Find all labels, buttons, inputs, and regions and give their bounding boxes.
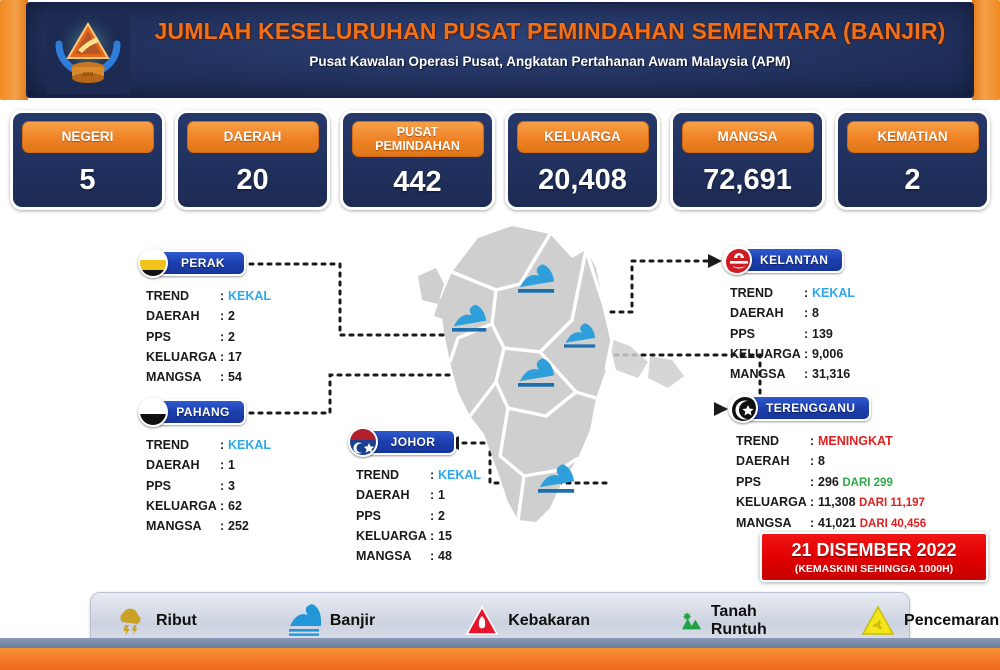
stat-label-kematian: KEMATIAN <box>847 121 979 153</box>
stat-label-negeri: NEGERI <box>22 121 154 153</box>
state-panel-kelantan[interactable]: KELANTAN TREND:KEKAL DAERAH:8 PPS:139 KE… <box>722 245 855 384</box>
stat-card-kematian: KEMATIAN 2 <box>835 110 990 210</box>
state-header-kelantan: KELANTAN <box>722 245 855 275</box>
row-pps: PPS:2 <box>146 327 271 347</box>
row-daerah: DAERAH:1 <box>146 455 271 475</box>
row-mangsa: MANGSA:31,316 <box>730 364 855 384</box>
row-keluarga: KELUARGA:17 <box>146 347 271 367</box>
row-trend: TREND:MENINGKAT <box>736 431 926 451</box>
row-keluarga: KELUARGA:11,308 DARI 11,197 <box>736 492 926 513</box>
row-pps: PPS:3 <box>146 476 271 496</box>
row-mangsa: MANGSA:252 <box>146 516 271 536</box>
stat-label-pusat-pemindahan: PUSAT PEMINDAHAN <box>352 121 484 157</box>
map-area: PERAK TREND:KEKAL DAERAH:2 PPS:2 KELUARG… <box>0 215 1000 585</box>
row-trend: TREND:KEKAL <box>146 435 271 455</box>
row-keluarga: KELUARGA:15 <box>356 526 481 546</box>
johor-flag-icon <box>348 427 378 457</box>
mangsa-previous-value: DARI 40,456 <box>860 518 926 530</box>
state-rows-terengganu: TREND:MENINGKAT DAERAH:8 PPS:296 DARI 29… <box>736 431 926 533</box>
header-banner: APM JUMLAH KESELURUHAN PUSAT PEMINDAHAN … <box>26 2 974 98</box>
stat-value-kematian: 2 <box>904 153 920 207</box>
legend-label-pencemaran: Pencemaran <box>904 612 999 630</box>
fire-triangle-icon <box>465 604 499 638</box>
row-mangsa: MANGSA:54 <box>146 367 271 387</box>
row-keluarga: KELUARGA:62 <box>146 496 271 516</box>
state-header-johor: JOHOR <box>348 427 481 457</box>
kelantan-flag-icon <box>722 245 752 275</box>
stat-label-daerah: DAERAH <box>187 121 319 153</box>
row-daerah: DAERAH:8 <box>736 451 926 471</box>
row-daerah: DAERAH:1 <box>356 485 481 505</box>
state-header-pahang: PAHANG <box>138 397 271 427</box>
summary-stats-row: NEGERI 5 DAERAH 20 PUSAT PEMINDAHAN 442 … <box>10 110 990 210</box>
stat-card-mangsa: MANGSA 72,691 <box>670 110 825 210</box>
legend-item-pencemaran: Pencemaran <box>861 604 999 638</box>
terengganu-flag-icon <box>728 393 758 423</box>
stat-card-keluarga: KELUARGA 20,408 <box>505 110 660 210</box>
state-rows-johor: TREND:KEKAL DAERAH:1 PPS:2 KELUARGA:15 M… <box>356 465 481 566</box>
legend-item-kebakaran: Kebakaran <box>465 604 590 638</box>
legend-label-kebakaran: Kebakaran <box>508 612 590 630</box>
date-banner: 21 DISEMBER 2022 (KEMASKINI SEHINGGA 100… <box>760 532 988 582</box>
state-rows-pahang: TREND:KEKAL DAERAH:1 PPS:3 KELUARGA:62 M… <box>146 435 271 536</box>
row-pps: PPS:296 DARI 299 <box>736 472 926 493</box>
pollution-triangle-icon <box>861 604 895 638</box>
stat-card-negeri: NEGERI 5 <box>10 110 165 210</box>
legend-item-tanah-runtuh: Tanah Runtuh <box>680 603 779 639</box>
row-daerah: DAERAH:8 <box>730 303 855 323</box>
state-panel-perak[interactable]: PERAK TREND:KEKAL DAERAH:2 PPS:2 KELUARG… <box>138 248 271 387</box>
page-subtitle: Pusat Kawalan Operasi Pusat, Angkatan Pe… <box>148 54 952 69</box>
flood-wave-icon <box>287 604 321 638</box>
keluarga-previous-value: DARI 11,197 <box>859 497 925 509</box>
state-header-perak: PERAK <box>138 248 271 278</box>
row-keluarga: KELUARGA:9,006 <box>730 344 855 364</box>
page-title: JUMLAH KESELURUHAN PUSAT PEMINDAHAN SEME… <box>148 18 952 45</box>
svg-text:APM: APM <box>83 72 94 78</box>
footer-blue-bar <box>0 638 1000 648</box>
legend-label-banjir: Banjir <box>330 612 375 630</box>
storm-cloud-icon <box>113 604 147 638</box>
row-daerah: DAERAH:2 <box>146 306 271 326</box>
footer-orange-bar <box>0 648 1000 670</box>
state-rows-kelantan: TREND:KEKAL DAERAH:8 PPS:139 KELUARGA:9,… <box>730 283 855 384</box>
frame-left-orange-bar <box>0 0 28 100</box>
state-name-terengganu: TERENGGANU <box>744 395 871 421</box>
state-panel-pahang[interactable]: PAHANG TREND:KEKAL DAERAH:1 PPS:3 KELUAR… <box>138 397 271 536</box>
row-pps: PPS:139 <box>730 324 855 344</box>
row-pps: PPS:2 <box>356 506 481 526</box>
frame-right-orange-bar <box>972 0 1000 100</box>
state-panel-terengganu[interactable]: TERENGGANU TREND:MENINGKAT DAERAH:8 PPS:… <box>728 393 926 533</box>
legend-label-tanah-runtuh: Tanah Runtuh <box>711 603 779 639</box>
row-trend: TREND:KEKAL <box>146 286 271 306</box>
stat-label-mangsa: MANGSA <box>682 121 814 153</box>
stat-value-mangsa: 72,691 <box>703 153 792 207</box>
stat-value-pusat-pemindahan: 442 <box>393 157 441 207</box>
row-mangsa: MANGSA:41,021 DARI 40,456 <box>736 513 926 534</box>
stat-card-daerah: DAERAH 20 <box>175 110 330 210</box>
pahang-flag-icon <box>138 397 168 427</box>
stat-card-pusat-pemindahan: PUSAT PEMINDAHAN 442 <box>340 110 495 210</box>
row-trend: TREND:KEKAL <box>356 465 481 485</box>
stat-label-keluarga: KELUARGA <box>517 121 649 153</box>
stat-value-keluarga: 20,408 <box>538 153 627 207</box>
state-header-terengganu: TERENGGANU <box>728 393 926 423</box>
perak-flag-icon <box>138 248 168 278</box>
stat-value-negeri: 5 <box>79 153 95 207</box>
report-date: 21 DISEMBER 2022 <box>791 540 956 561</box>
apm-logo: APM <box>46 10 130 94</box>
state-panel-johor[interactable]: JOHOR TREND:KEKAL DAERAH:1 PPS:2 KELUARG… <box>348 427 481 566</box>
pps-previous-value: DARI 299 <box>842 477 893 489</box>
state-name-kelantan: KELANTAN <box>738 247 844 273</box>
row-mangsa: MANGSA:48 <box>356 546 481 566</box>
legend-item-ribut: Ribut <box>113 604 197 638</box>
legend-item-banjir: Banjir <box>287 604 375 638</box>
header-text-block: JUMLAH KESELURUHAN PUSAT PEMINDAHAN SEME… <box>148 18 952 69</box>
landslide-icon <box>680 604 702 638</box>
legend-label-ribut: Ribut <box>156 612 197 630</box>
report-update-note: (KEMASKINI SEHINGGA 1000H) <box>795 563 953 575</box>
state-rows-perak: TREND:KEKAL DAERAH:2 PPS:2 KELUARGA:17 M… <box>146 286 271 387</box>
stat-value-daerah: 20 <box>236 153 268 207</box>
row-trend: TREND:KEKAL <box>730 283 855 303</box>
